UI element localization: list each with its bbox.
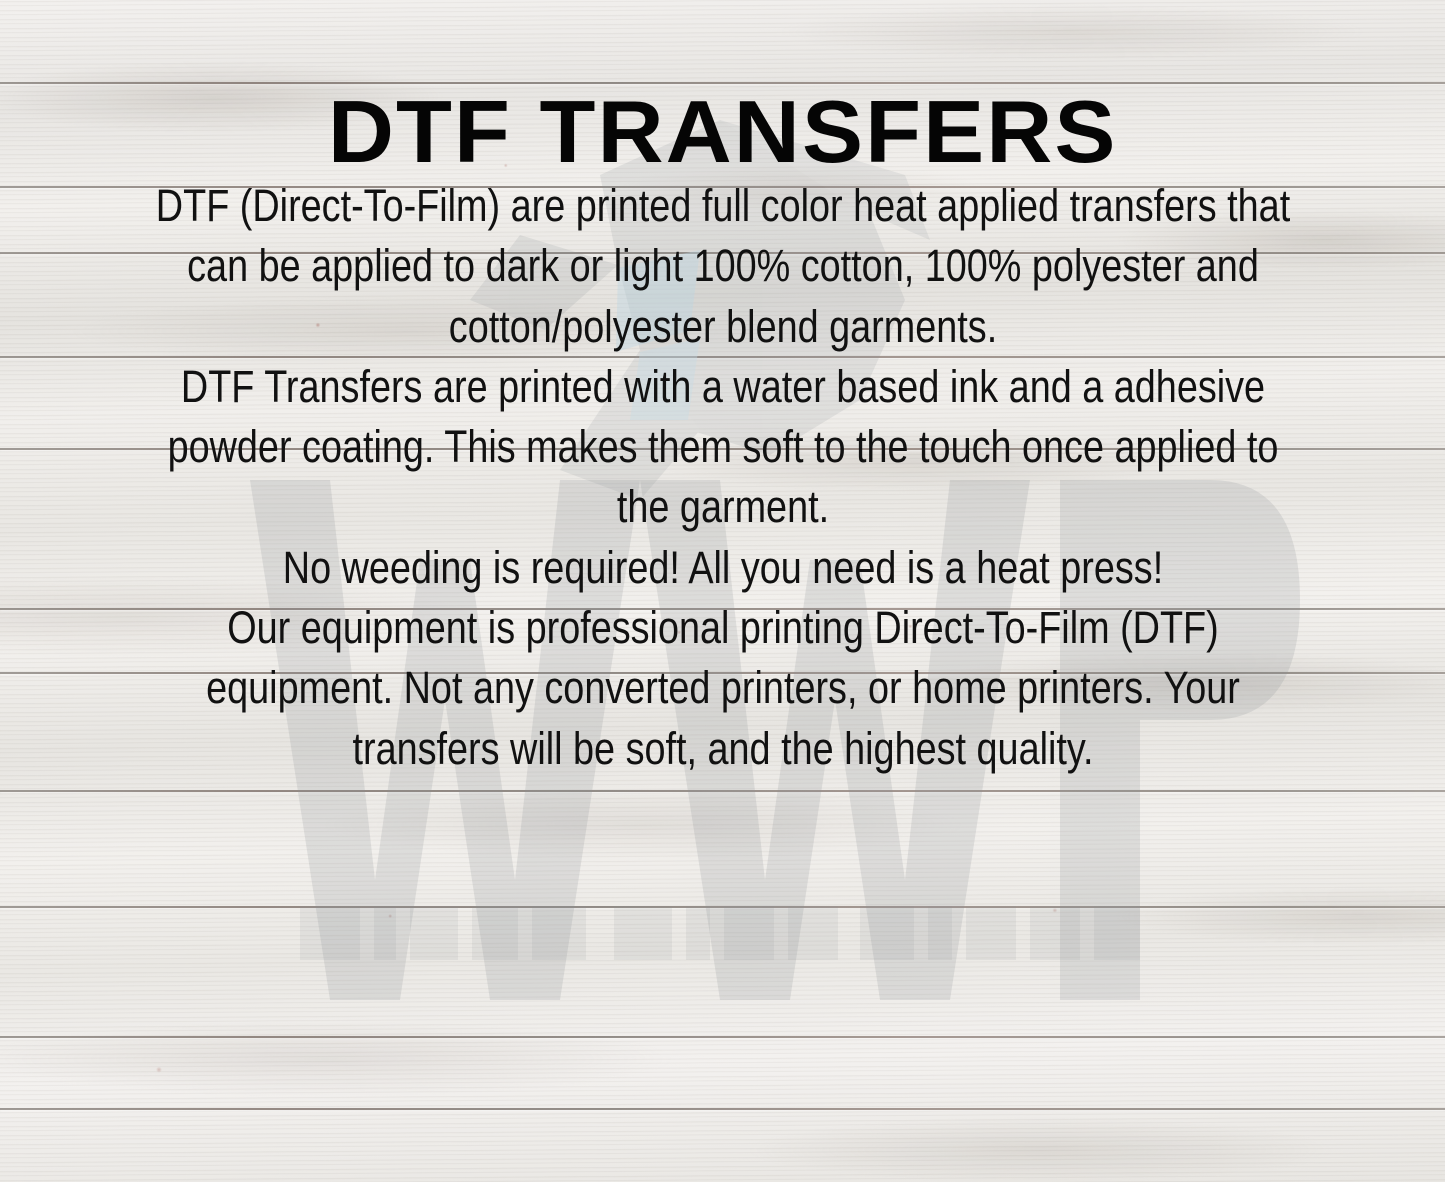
paragraph-product-description: DTF (Direct-To-Film) are printed full co… xyxy=(151,176,1293,357)
graphic-content: DTF TRANSFERS DTF (Direct-To-Film) are p… xyxy=(0,0,1445,1182)
page-title: DTF TRANSFERS xyxy=(328,0,1118,176)
dtf-transfers-graphic: DTF TRANSFERS DTF (Direct-To-Film) are p… xyxy=(0,0,1445,1182)
paragraph-equipment-quality: Our equipment is professional printing D… xyxy=(151,598,1293,779)
paragraph-no-weeding: No weeding is required! All you need is … xyxy=(151,538,1293,598)
paragraph-ink-and-feel: DTF Transfers are printed with a water b… xyxy=(151,357,1293,538)
info-paragraphs: DTF (Direct-To-Film) are printed full co… xyxy=(151,176,1293,779)
